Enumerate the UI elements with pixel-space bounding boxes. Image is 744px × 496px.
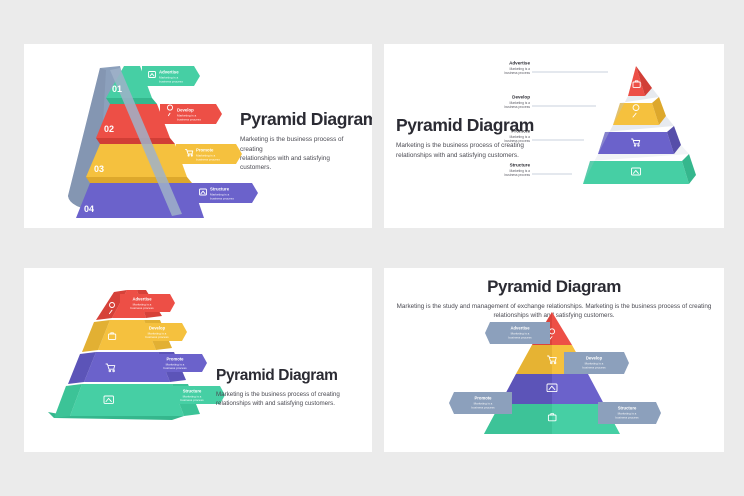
callout-develop[interactable]: Develop Marketing is a business process xyxy=(160,104,222,124)
legend-develop-sub2: business process xyxy=(505,105,531,109)
callout-advertise-sub2: business process xyxy=(130,306,154,310)
slide2-subtitle-line2: relationships with and satisfying custom… xyxy=(396,152,519,159)
callout-advertise-label: Advertise xyxy=(132,297,152,302)
slide2-subtitle-line1: Marketing is the business process of cre… xyxy=(396,142,524,149)
slide1-subtitle-line1: Marketing is the business process of cre… xyxy=(240,136,343,152)
legend-structure-label: Structure xyxy=(510,163,531,168)
slide1-subtitle-line2: relationships with and satisfying custom… xyxy=(240,155,330,171)
callout-promote-label: Promote xyxy=(167,357,185,362)
callout-promote[interactable]: Promote Marketing is a business process xyxy=(449,392,512,414)
slice-structure-face xyxy=(583,161,689,184)
legend-develop-label: Develop xyxy=(512,95,530,100)
callout-structure[interactable]: Structure Marketing is a business proces… xyxy=(598,402,661,424)
slide3-title: Pyramid Diagram xyxy=(216,368,346,384)
legend-develop[interactable]: Develop Marketing is a business process xyxy=(505,95,531,110)
slide-triangle-right[interactable]: Advertise Marketing is a business proces… xyxy=(384,44,724,228)
band-number-3: 03 xyxy=(94,164,104,174)
slide4-graphic: Advertise Marketing is a business proces… xyxy=(384,268,724,452)
band-4-face xyxy=(76,183,204,218)
callout-develop-sub2: business process xyxy=(145,335,169,339)
band-2-side xyxy=(96,138,175,144)
band-number-4: 04 xyxy=(84,204,94,214)
slide-cone-pyramid[interactable]: 01 02 03 04 Advertise Marketing is a bus… xyxy=(24,44,372,228)
slide3-subtitle-line1: Marketing is the business process of cre… xyxy=(216,391,340,398)
slide-centered-triangle[interactable]: Pyramid Diagram Marketing is the study a… xyxy=(384,268,724,452)
callout-develop-label: Develop xyxy=(177,107,194,112)
callout-advertise-label: Advertise xyxy=(510,326,530,331)
legend-advertise-label: Advertise xyxy=(509,61,530,66)
callout-develop[interactable]: Develop Marketing is a business process xyxy=(134,323,187,341)
legend-advertise-sub2: business process xyxy=(505,71,531,75)
callout-promote-sub2: business process xyxy=(471,406,495,410)
callout-advertise-label: Advertise xyxy=(159,69,179,74)
callout-promote-label: Promote xyxy=(475,396,493,401)
band-number-2: 02 xyxy=(104,124,114,134)
callout-structure[interactable]: Structure Marketing is a business proces… xyxy=(192,183,258,203)
callout-advertise-sub2: business process xyxy=(159,79,183,83)
slide3-subtitle-line2: relationships with and satisfying custom… xyxy=(216,400,335,407)
band-develop-shade xyxy=(516,345,552,374)
slide2-title: Pyramid Diagram xyxy=(396,116,526,134)
callout-advertise-sub2: business process xyxy=(508,336,532,340)
callout-develop-sub2: business process xyxy=(582,366,606,370)
callout-develop-sub2: business process xyxy=(177,117,201,121)
callout-structure-label: Structure xyxy=(183,389,202,394)
callout-develop[interactable]: Develop Marketing is a business process xyxy=(564,352,629,374)
callout-structure-sub2: business process xyxy=(180,398,204,402)
slide-deck-canvas: 01 02 03 04 Advertise Marketing is a bus… xyxy=(0,0,744,496)
legend-advertise[interactable]: Advertise Marketing is a business proces… xyxy=(505,61,531,76)
callout-develop-label: Develop xyxy=(149,326,166,331)
slide3-graphic: Advertise Marketing is a business proces… xyxy=(24,268,372,452)
callout-structure-label: Structure xyxy=(210,186,230,191)
triangle-pyramid xyxy=(583,66,696,184)
callout-promote-sub2: business process xyxy=(163,366,187,370)
band-number-1: 01 xyxy=(112,84,122,94)
legend-structure[interactable]: Structure Marketing is a business proces… xyxy=(505,163,531,178)
callout-advertise[interactable]: Advertise Marketing is a business proces… xyxy=(142,66,200,86)
callout-advertise[interactable]: Advertise Marketing is a business proces… xyxy=(120,294,175,312)
legend-structure-sub2: business process xyxy=(505,173,531,177)
callout-structure-sub2: business process xyxy=(210,196,234,200)
callout-promote[interactable]: Promote Marketing is a business process xyxy=(176,144,242,164)
callout-develop-label: Develop xyxy=(586,356,603,361)
callout-structure-sub2: business process xyxy=(615,416,639,420)
slide1-title: Pyramid Diagram xyxy=(240,110,362,128)
callout-promote-label: Promote xyxy=(196,147,214,152)
slide-stepped-pyramid[interactable]: Advertise Marketing is a business proces… xyxy=(24,268,372,452)
band-3-side xyxy=(86,177,192,183)
callout-promote-sub2: business process xyxy=(196,157,220,161)
callout-structure-label: Structure xyxy=(618,406,637,411)
callout-promote[interactable]: Promote Marketing is a business process xyxy=(152,354,207,372)
callout-advertise[interactable]: Advertise Marketing is a business proces… xyxy=(485,322,550,344)
slice-promote-face xyxy=(598,132,674,154)
